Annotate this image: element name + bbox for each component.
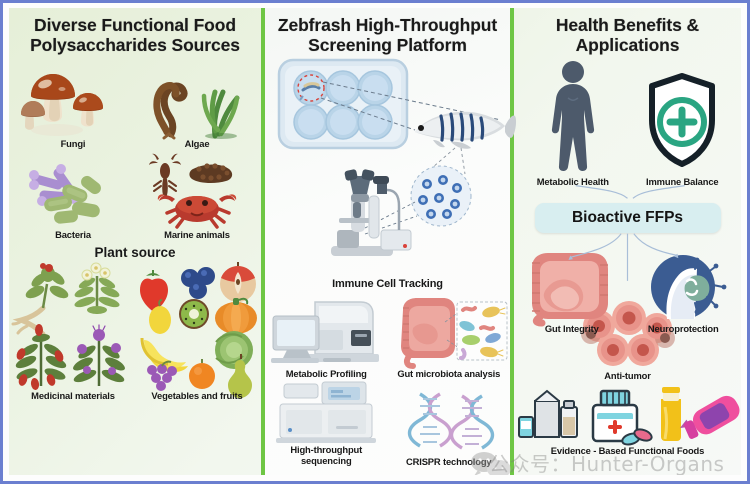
- zebrafish-illustration: [415, 111, 516, 148]
- immune-cell-tracking-group[interactable]: [265, 174, 510, 278]
- left-plant-row: Medicinal materials: [9, 260, 261, 401]
- right-benefit-row-2: Gut Integrity: [514, 233, 741, 334]
- benefit-label-immune-balance: Immune Balance: [646, 176, 718, 187]
- bioactive-ffps-hub[interactable]: Bioactive FFPs: [535, 203, 721, 233]
- source-label-fungi: Fungi: [61, 138, 86, 149]
- source-item-algae[interactable]: Algae: [135, 60, 259, 149]
- brain-neuron-icon: [637, 251, 729, 323]
- panel-screening-platform: Zebfrash High-Throughput Screening Platf…: [265, 8, 510, 475]
- source-item-medicinal-materials[interactable]: Medicinal materials: [11, 262, 135, 401]
- panel-polysaccharide-sources: Diverse Functional Food Polysaccharides …: [9, 8, 261, 475]
- human-body-icon: [538, 58, 608, 176]
- shield-plus-icon: [639, 68, 725, 176]
- source-label-algae: Algae: [185, 138, 210, 149]
- seaweed-icon: [143, 60, 251, 138]
- panel-middle-title-line1: Zebfrash High-Throughput: [269, 15, 506, 35]
- fruit-vegetable-icon: [136, 262, 258, 390]
- middle-row-analysis: Metabolic Profiling: [265, 294, 510, 379]
- hub-connector-top: [514, 185, 741, 199]
- middle-label-metabolic-profiling: Metabolic Profiling: [286, 368, 367, 379]
- plant-source-heading: Plant source: [9, 245, 261, 260]
- benefit-item-functional-foods[interactable]: Evidence - Based Functional Foods: [514, 383, 741, 456]
- microscope-illustration: [331, 168, 411, 255]
- source-label-marine-animals: Marine animals: [164, 229, 230, 240]
- benefit-item-metabolic-health[interactable]: Metabolic Health: [518, 58, 628, 187]
- supplement-products-icon: [515, 383, 741, 447]
- graphical-abstract-figure: Diverse Functional Food Polysaccharides …: [0, 0, 750, 484]
- middle-item-gut-microbiota[interactable]: Gut microbiota analysis: [388, 294, 511, 379]
- source-item-bacteria[interactable]: Bacteria: [11, 151, 135, 240]
- benefit-label-metabolic-health: Metabolic Health: [537, 176, 609, 187]
- panel-middle-title: Zebfrash High-Throughput Screening Platf…: [265, 8, 510, 56]
- middle-item-metabolic-profiling[interactable]: Metabolic Profiling: [265, 294, 388, 379]
- benefit-label-functional-foods: Evidence - Based Functional Foods: [551, 445, 704, 456]
- figure-board: Diverse Functional Food Polysaccharides …: [9, 8, 741, 475]
- panel-right-title: Health Benefits & Applications: [514, 8, 741, 56]
- left-source-row-2: Bacteria: [9, 149, 261, 240]
- middle-item-crispr[interactable]: CRISPR technology: [388, 382, 511, 468]
- bacteria-icon: [18, 163, 128, 229]
- middle-label-sequencing-line1: High-throughput sequencing: [276, 444, 376, 468]
- panel-left-title-line1: Diverse Functional Food: [13, 15, 257, 35]
- benefit-item-neuroprotection[interactable]: Neuroprotection: [628, 235, 740, 334]
- intestine-icon: [520, 251, 624, 323]
- panel-health-benefits: Health Benefits & Applications: [514, 8, 741, 475]
- panel-right-title-line1: Health Benefits &: [518, 15, 737, 35]
- benefit-label-anti-tumor: Anti-tumor: [604, 370, 650, 381]
- benefit-label-gut-integrity: Gut Integrity: [545, 323, 599, 334]
- analyzer-workstation-icon: [267, 294, 385, 368]
- left-source-row-1: Fungi: [9, 56, 261, 149]
- middle-label-immune-cell-tracking: Immune Cell Tracking: [265, 278, 510, 290]
- benefit-item-gut-integrity[interactable]: Gut Integrity: [516, 235, 628, 334]
- middle-label-crispr: CRISPR technology: [406, 456, 491, 467]
- sequencer-icon: [270, 382, 382, 444]
- dna-helix-icon: [394, 394, 504, 456]
- source-item-marine-animals[interactable]: Marine animals: [135, 151, 259, 240]
- panel-left-title-line2: Polysaccharides Sources: [13, 35, 257, 55]
- middle-item-sequencing[interactable]: High-throughput sequencing: [265, 382, 388, 468]
- source-item-vegetables-fruits[interactable]: Vegetables and fruits: [135, 262, 259, 401]
- panel-middle-title-line2: Screening Platform: [269, 35, 506, 55]
- panel-right-title-line2: Applications: [518, 35, 737, 55]
- intestine-microbes-icon: [389, 294, 509, 368]
- herb-plants-icon: [13, 262, 133, 390]
- middle-label-gut-microbiota: Gut microbiota analysis: [397, 368, 500, 379]
- zebrafish-assay-group: [265, 56, 510, 174]
- source-label-bacteria: Bacteria: [55, 229, 91, 240]
- crab-icon: [141, 151, 253, 229]
- middle-row-genomics: High-throughput sequencing: [265, 382, 510, 468]
- benefit-label-neuroprotection: Neuroprotection: [648, 323, 719, 334]
- source-label-medicinal-materials: Medicinal materials: [31, 390, 115, 401]
- mushroom-icon: [21, 60, 125, 138]
- source-item-fungi[interactable]: Fungi: [11, 60, 135, 149]
- source-label-vegetables-fruits: Vegetables and fruits: [151, 390, 242, 401]
- right-benefit-row-1: Metabolic Health Immune Balance: [514, 56, 741, 187]
- panel-left-title: Diverse Functional Food Polysaccharides …: [9, 8, 261, 56]
- benefit-item-immune-balance[interactable]: Immune Balance: [628, 58, 738, 187]
